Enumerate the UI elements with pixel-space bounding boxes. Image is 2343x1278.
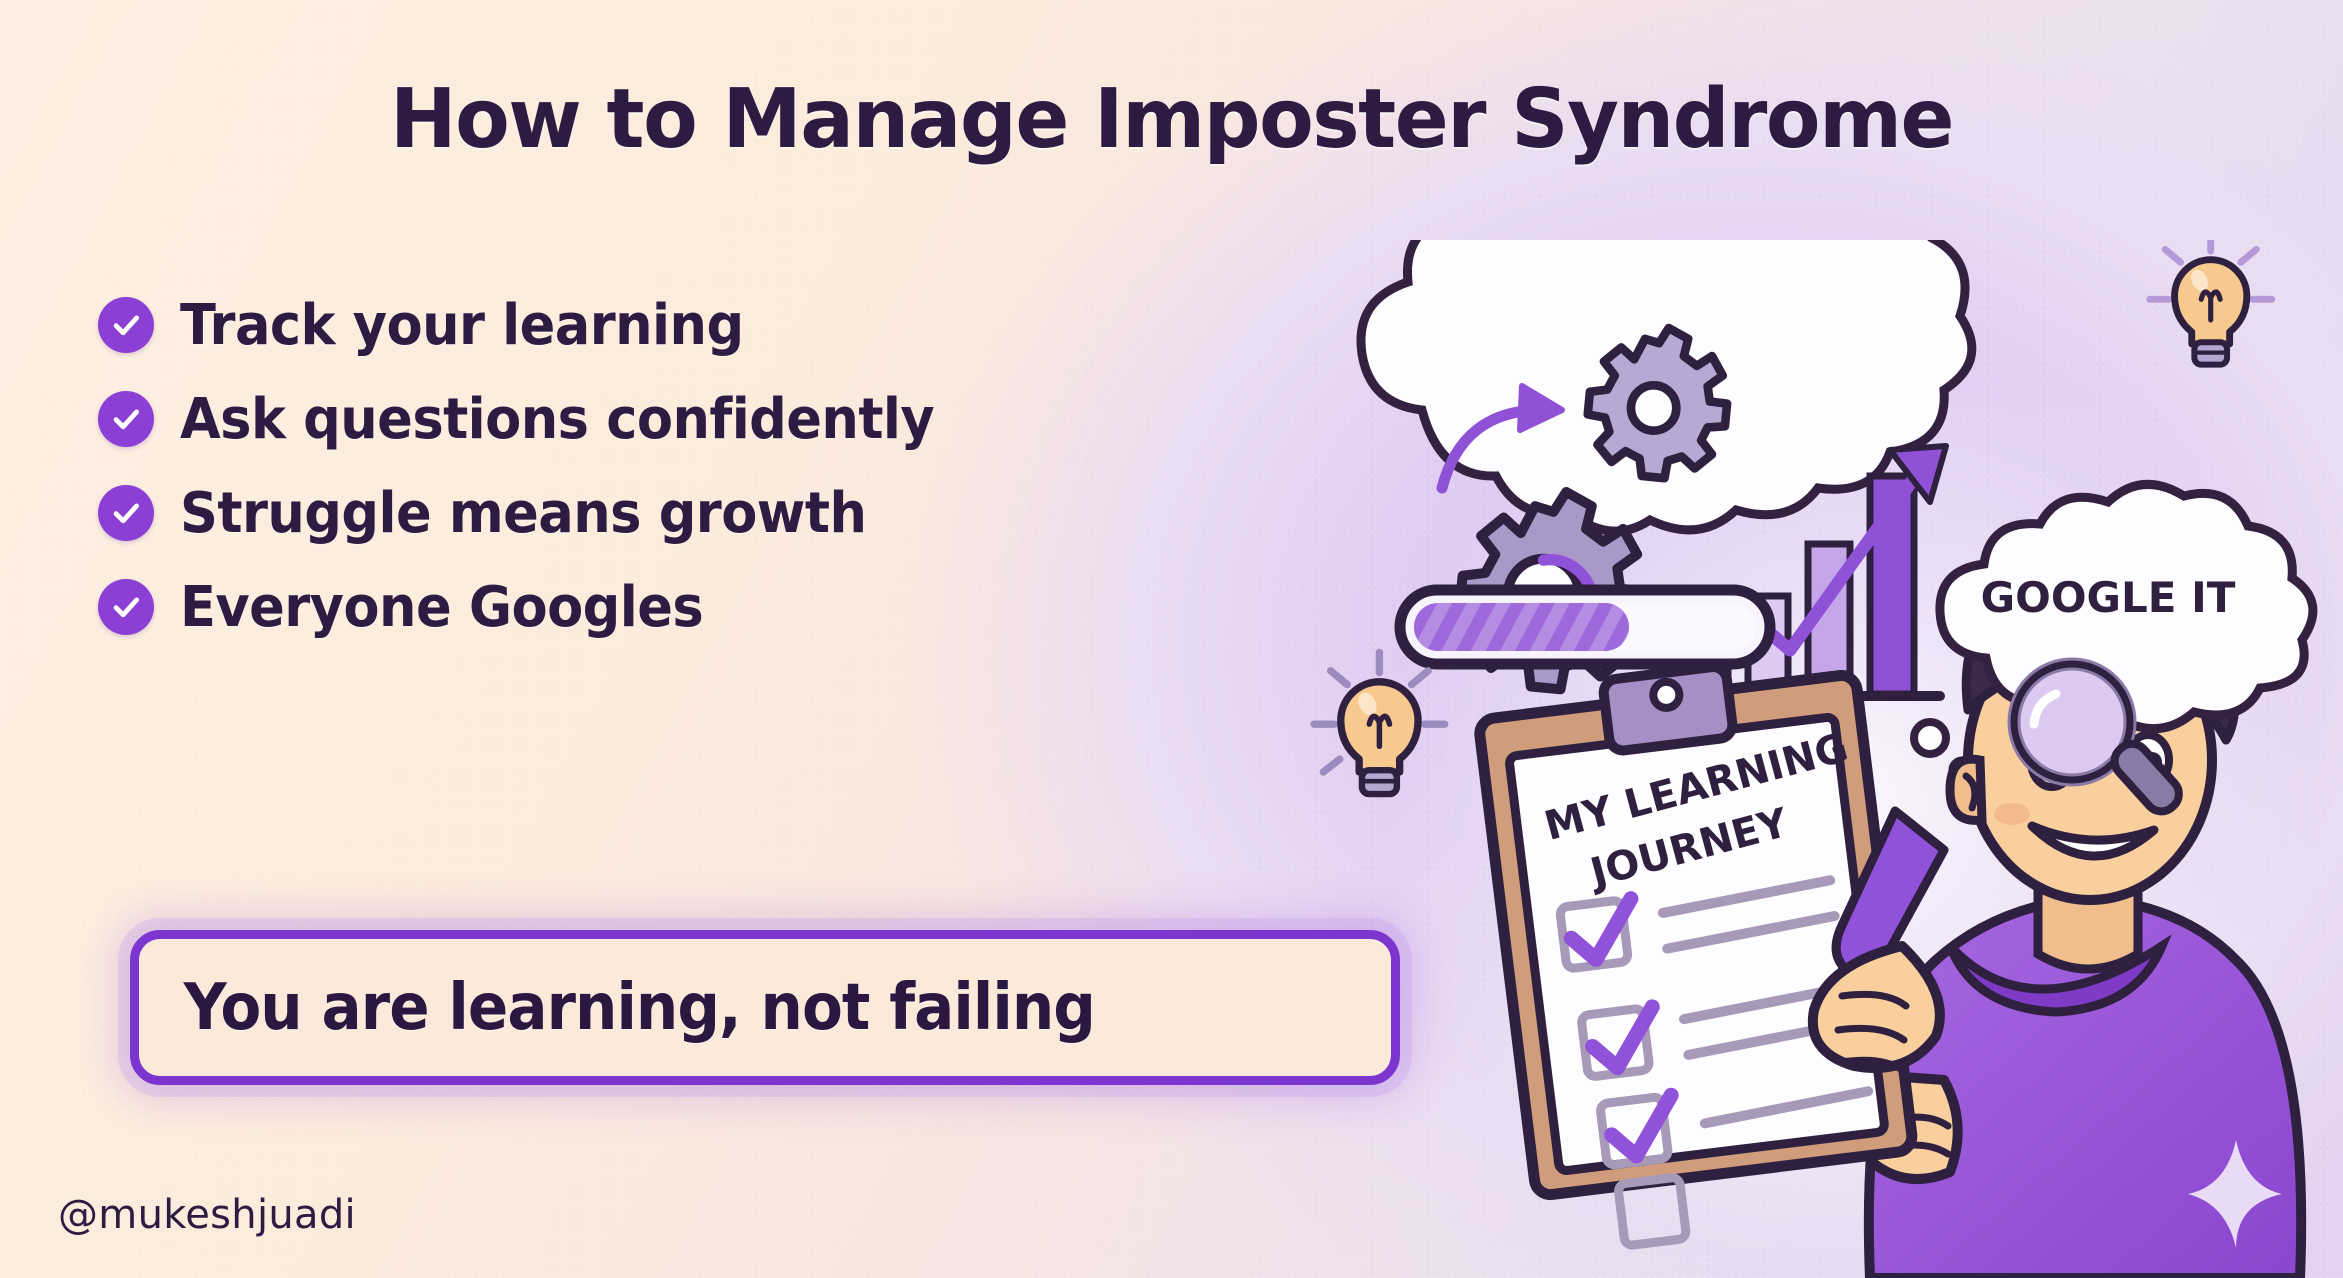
- check-circle-icon: [98, 391, 154, 447]
- list-item: Everyone Googles: [98, 560, 998, 654]
- check-circle-icon: [98, 297, 154, 353]
- google-it-text: GOOGLE IT: [1981, 573, 2236, 622]
- footer-handle: @mukeshjuadi: [58, 1192, 356, 1238]
- poster-canvas: How to Manage Imposter Syndrome Track yo…: [0, 0, 2343, 1278]
- lightbulb-icon-right: [2150, 240, 2272, 365]
- check-circle-icon: [98, 485, 154, 541]
- list-item: Struggle means growth: [98, 466, 998, 560]
- check-circle-icon: [98, 579, 154, 635]
- list-item-label: Everyone Googles: [180, 575, 703, 640]
- callout-text: You are learning, not failing: [139, 971, 1095, 1045]
- list-item: Track your learning: [98, 278, 998, 372]
- list-item-label: Ask questions confidently: [180, 387, 934, 452]
- benefits-list: Track your learning Ask questions confid…: [98, 278, 998, 654]
- illustration: MY LEARNING JOURNEY: [1290, 240, 2343, 1278]
- progress-bar: [1400, 590, 1770, 664]
- callout-box: You are learning, not failing: [130, 930, 1400, 1085]
- thought-bubble-tail-dot: [1914, 722, 1946, 754]
- page-title: How to Manage Imposter Syndrome: [35, 72, 2308, 167]
- list-item: Ask questions confidently: [98, 372, 998, 466]
- list-item-label: Track your learning: [180, 293, 744, 358]
- list-item-label: Struggle means growth: [180, 481, 866, 546]
